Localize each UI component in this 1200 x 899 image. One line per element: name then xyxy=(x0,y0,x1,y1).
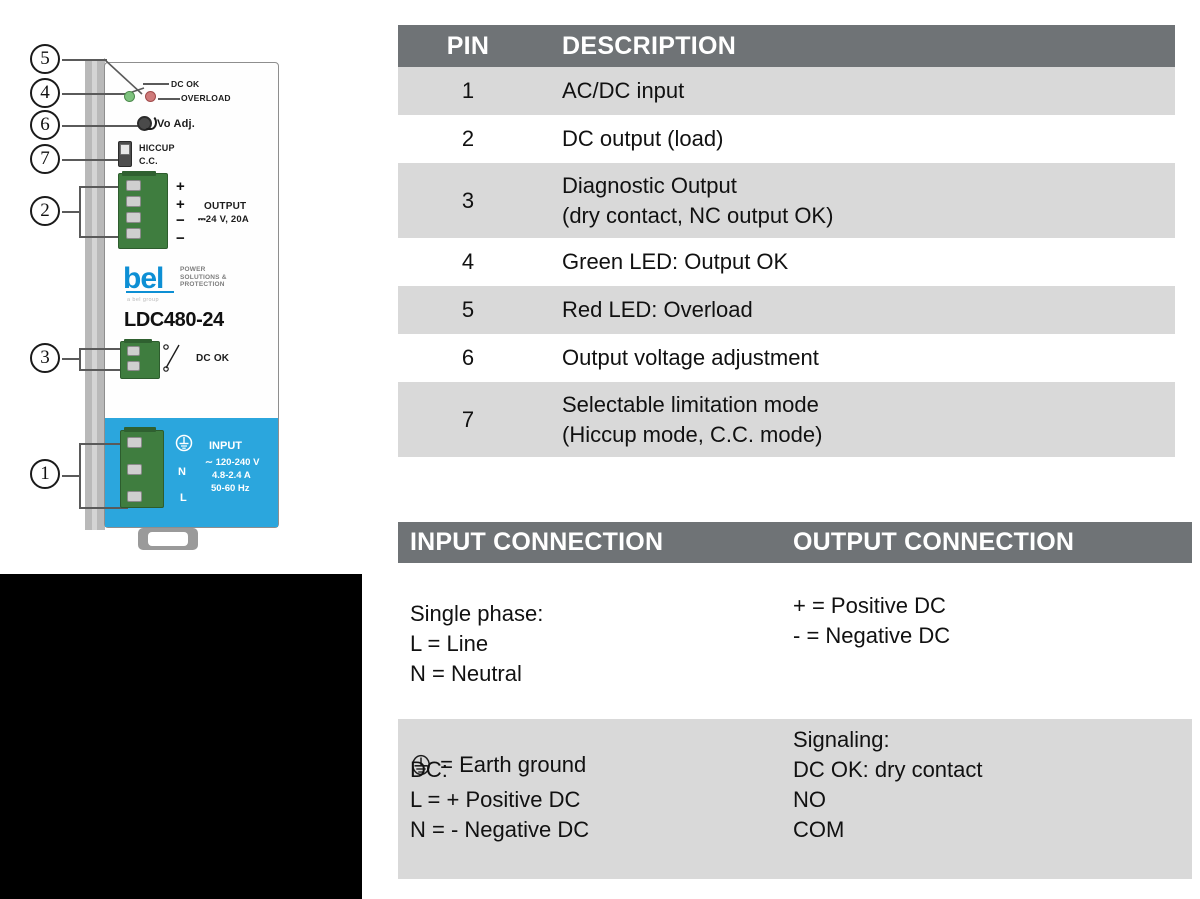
dc-ok-terminal-top-edge xyxy=(124,339,152,343)
input-connection-lines: Single phase: L = Line N = Neutral xyxy=(410,599,793,689)
pin-cell: 2 xyxy=(398,126,538,152)
connection-table: INPUT CONNECTION OUTPUT CONNECTION Singl… xyxy=(398,522,1192,879)
output-sign-minus-2: − xyxy=(176,230,185,247)
input-terminal-l-label: L xyxy=(180,492,187,504)
output-terminal-top-edge xyxy=(122,171,156,176)
leader-bracket-3-bottom xyxy=(79,369,123,371)
input-voltage-label: ∼ 120-240 V xyxy=(205,457,259,468)
table-row: DC: L = + Positive DC N = - Negative DC … xyxy=(398,719,1192,879)
input-connection-cell: Single phase: L = Line N = Neutral = Ear… xyxy=(398,563,793,719)
input-terminal-hole-n[interactable] xyxy=(127,464,142,475)
input-frequency-label: 50-60 Hz xyxy=(211,483,250,494)
output-rating-label: ⎓24 V, 20A xyxy=(198,214,249,225)
dc-ok-terminal-hole-2[interactable] xyxy=(127,361,140,371)
table-row: 4 Green LED: Output OK xyxy=(398,238,1175,286)
dry-contact-relay-icon xyxy=(162,341,192,377)
pin-cell: 3 xyxy=(398,188,538,214)
leader-line-6 xyxy=(62,125,138,127)
pin-cell: 5 xyxy=(398,297,538,323)
limitation-mode-switch-knob[interactable] xyxy=(120,144,130,155)
leader-bracket-1-vertical xyxy=(79,443,81,508)
input-connection-cell: DC: L = + Positive DC N = - Negative DC … xyxy=(398,719,793,879)
input-title-label: INPUT xyxy=(209,440,242,452)
output-sign-plus-2: + xyxy=(176,196,185,213)
output-terminal-hole-3[interactable] xyxy=(126,212,141,223)
leader-line-1 xyxy=(62,475,80,477)
din-rail-clip-inner xyxy=(148,532,188,546)
input-earth-ground-line: = Earth ground xyxy=(410,876,793,899)
callout-3: 3 xyxy=(30,343,60,373)
product-model-label: LDC480-24 xyxy=(124,309,224,332)
bel-logo-underline xyxy=(126,291,174,293)
dc-ok-terminal-hole-1[interactable] xyxy=(127,346,140,356)
hiccup-label: HICCUP xyxy=(139,143,175,153)
table-row: 3 Diagnostic Output (dry contact, NC out… xyxy=(398,163,1175,238)
pin-description-table: PIN DESCRIPTION 1 AC/DC input 2 DC outpu… xyxy=(398,25,1175,457)
pin-cell: 6 xyxy=(398,345,538,371)
description-cell: Selectable limitation mode (Hiccup mode,… xyxy=(538,390,1175,448)
input-terminal-top-edge xyxy=(124,427,156,432)
dc-ok-terminal-block[interactable] xyxy=(120,341,160,379)
page-root: 5 4 6 7 2 3 1 xyxy=(0,0,1200,899)
connection-table-header-output: OUTPUT CONNECTION xyxy=(793,528,1192,557)
input-connection-lines: DC: L = + Positive DC N = - Negative DC xyxy=(410,755,793,845)
description-cell: Output voltage adjustment xyxy=(538,343,1175,372)
pin-cell: 7 xyxy=(398,407,538,433)
callout-7: 7 xyxy=(30,144,60,174)
red-led-indicator xyxy=(145,91,156,102)
output-title-label: OUTPUT xyxy=(204,201,246,212)
output-terminal-hole-4[interactable] xyxy=(126,228,141,239)
table-row: Single phase: L = Line N = Neutral = Ear… xyxy=(398,563,1192,719)
input-current-label: 4.8-2.4 A xyxy=(212,470,251,481)
output-terminal-hole-1[interactable] xyxy=(126,180,141,191)
product-photo-panel: 5 4 6 7 2 3 1 xyxy=(0,0,380,574)
connection-table-header-input: INPUT CONNECTION xyxy=(398,528,793,557)
input-terminal-n-label: N xyxy=(178,466,186,478)
black-filler-block xyxy=(0,574,362,899)
description-cell: Diagnostic Output (dry contact, NC outpu… xyxy=(538,171,1175,229)
leader-line-4 xyxy=(62,93,128,95)
pin-table-header-pin: PIN xyxy=(398,32,538,61)
callout-1: 1 xyxy=(30,459,60,489)
leader-bracket-3-top xyxy=(79,348,123,350)
table-row: 1 AC/DC input xyxy=(398,67,1175,115)
overload-led-label: OVERLOAD xyxy=(181,93,231,103)
pin-table-header-row: PIN DESCRIPTION xyxy=(398,25,1175,67)
dc-ok-terminal-label: DC OK xyxy=(196,353,229,364)
pin-table-header-description: DESCRIPTION xyxy=(538,32,1175,61)
device-side-rail-highlight xyxy=(92,60,97,530)
output-terminal-hole-2[interactable] xyxy=(126,196,141,207)
callout-2: 2 xyxy=(30,196,60,226)
pin-cell: 1 xyxy=(398,78,538,104)
connection-table-header-row: INPUT CONNECTION OUTPUT CONNECTION xyxy=(398,522,1192,563)
leader-line-dcok xyxy=(143,83,169,85)
output-sign-minus-1: − xyxy=(176,212,185,229)
vo-adj-label: Vo Adj. xyxy=(157,118,195,130)
callout-6: 6 xyxy=(30,110,60,140)
table-row: 7 Selectable limitation mode (Hiccup mod… xyxy=(398,382,1175,457)
output-sign-plus-1: + xyxy=(176,178,185,195)
callout-5: 5 xyxy=(30,44,60,74)
leader-bracket-3-vertical xyxy=(79,348,81,370)
leader-line-7 xyxy=(62,159,125,161)
leader-line-2 xyxy=(62,211,80,213)
leader-line-5 xyxy=(62,59,107,61)
description-cell: AC/DC input xyxy=(538,76,1175,105)
green-led-indicator xyxy=(124,91,135,102)
cc-label: C.C. xyxy=(139,156,158,166)
dc-ok-led-label: DC OK xyxy=(171,79,199,89)
bel-subtitle: a bel group xyxy=(127,297,159,303)
table-row: 2 DC output (load) xyxy=(398,115,1175,163)
pin-cell: 4 xyxy=(398,249,538,275)
leader-line-overload xyxy=(158,98,180,100)
description-cell: Green LED: Output OK xyxy=(538,247,1175,276)
output-connection-cell: + = Positive DC - = Negative DC xyxy=(793,563,1192,719)
bel-tagline: POWER SOLUTIONS & PROTECTION xyxy=(180,266,227,289)
leader-bracket-2-vertical xyxy=(79,186,81,237)
vo-adj-arrow-icon xyxy=(145,115,157,130)
description-cell: DC output (load) xyxy=(538,124,1175,153)
earth-ground-icon-device xyxy=(175,434,195,454)
description-cell: Red LED: Overload xyxy=(538,295,1175,324)
table-row: 5 Red LED: Overload xyxy=(398,286,1175,334)
leader-line-3 xyxy=(62,358,80,360)
input-terminal-hole-l[interactable] xyxy=(127,491,142,502)
callout-4: 4 xyxy=(30,78,60,108)
table-row: 6 Output voltage adjustment xyxy=(398,334,1175,382)
output-connection-cell: Signaling: DC OK: dry contact NO COM xyxy=(793,719,1192,879)
input-terminal-hole-earth[interactable] xyxy=(127,437,142,448)
